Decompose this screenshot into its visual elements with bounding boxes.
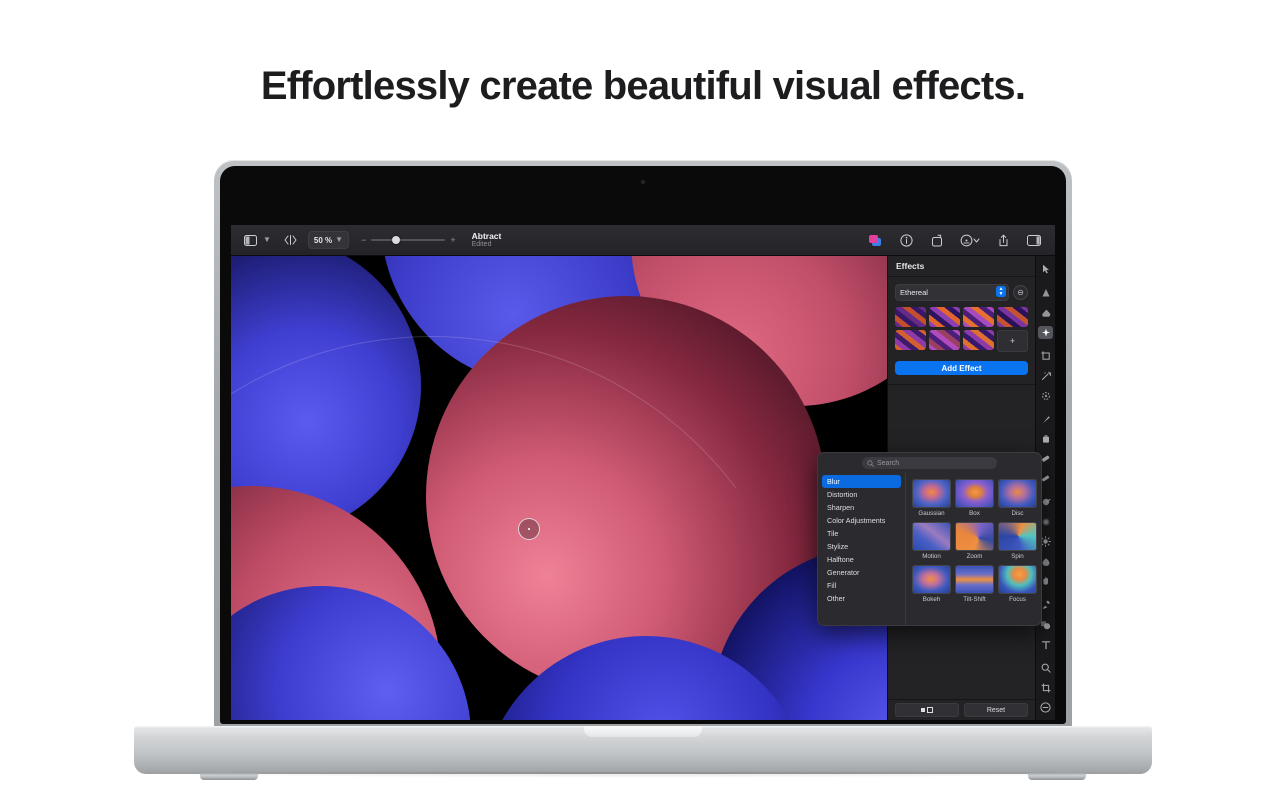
app-toolbar: ▼ 50 % ▼ − — [231, 225, 1055, 256]
preset-name: Ethereal — [900, 288, 928, 297]
magic-wand-icon[interactable] — [1038, 370, 1053, 383]
effect-thumb-box — [955, 479, 994, 508]
effects-browser-popover: Search Blur Distortion Sharpen Color Adj… — [817, 452, 1042, 626]
category-item-blur[interactable]: Blur — [822, 475, 901, 488]
search-placeholder: Search — [877, 460, 899, 467]
effect-thumb-bokeh — [912, 565, 951, 594]
effect-item-motion[interactable]: Motion — [912, 522, 951, 560]
effect-grid: Gaussian Box Disc — [906, 473, 1042, 625]
zoom-slider[interactable]: − + — [361, 236, 456, 245]
effect-item-box[interactable]: Box — [955, 479, 994, 517]
effects-preset-section: Ethereal ▲▼ ⊖ — [888, 277, 1035, 385]
effect-thumb-disc — [998, 479, 1037, 508]
popover-arrow — [973, 452, 985, 454]
preset-row: Ethereal ▲▼ ⊖ — [895, 284, 1028, 301]
effect-thumb-tilt-shift — [955, 565, 994, 594]
effect-item-disc[interactable]: Disc — [998, 479, 1037, 517]
screen: ▼ 50 % ▼ − — [231, 225, 1055, 720]
preset-thumbnails: + — [895, 307, 1028, 352]
layers-icon[interactable] — [866, 231, 884, 249]
effect-label: Zoom — [967, 553, 983, 560]
brush-icon[interactable] — [1038, 413, 1053, 426]
effect-label: Tilt-Shift — [963, 596, 985, 603]
magnifier-icon[interactable] — [1038, 662, 1053, 675]
effect-item-gaussian[interactable]: Gaussian — [912, 479, 951, 517]
panel-toggle-icon[interactable] — [1025, 231, 1043, 249]
category-item-fill[interactable]: Fill — [822, 579, 901, 592]
retouch-icon[interactable] — [1038, 287, 1053, 300]
clone-icon[interactable] — [1038, 389, 1053, 402]
effect-item-tilt-shift[interactable]: Tilt-Shift — [955, 565, 994, 603]
toolbar-right-group — [866, 231, 1055, 249]
preset-thumb-1[interactable] — [895, 307, 926, 327]
effect-label: Focus — [1009, 596, 1026, 603]
compare-filled-icon — [921, 708, 925, 712]
repair-icon[interactable] — [1038, 306, 1053, 319]
sidebar-icon[interactable] — [241, 231, 259, 249]
preset-thumb-4[interactable] — [997, 307, 1028, 327]
slider-plus-label: + — [450, 236, 455, 245]
effect-thumb-spin — [998, 522, 1037, 551]
compare-outline-icon — [927, 707, 933, 713]
effect-label: Gaussian — [918, 510, 944, 517]
crop-frame-icon[interactable] — [1038, 682, 1053, 695]
minus-circle-icon[interactable]: ⊖ — [1013, 285, 1028, 300]
zoom-level-control[interactable]: 50 % ▼ — [308, 231, 349, 249]
laptop-base — [134, 726, 1152, 774]
preset-thumb-6[interactable] — [929, 330, 960, 350]
effect-item-bokeh[interactable]: Bokeh — [912, 565, 951, 603]
adjust-icon[interactable] — [959, 231, 981, 249]
category-item-distortion[interactable]: Distortion — [822, 488, 901, 501]
preset-thumb-2[interactable] — [929, 307, 960, 327]
toolbar-left-group: ▼ 50 % ▼ − — [231, 231, 501, 249]
effect-label: Spin — [1011, 553, 1023, 560]
reset-button[interactable]: Reset — [964, 703, 1028, 717]
zoom-level-value: 50 % — [314, 236, 332, 245]
preset-thumb-5[interactable] — [895, 330, 926, 350]
document-title-block: Abtract Edited — [472, 232, 502, 249]
image-canvas[interactable] — [231, 256, 887, 720]
effect-thumb-motion — [912, 522, 951, 551]
category-item-sharpen[interactable]: Sharpen — [822, 501, 901, 514]
slider-knob[interactable] — [392, 236, 400, 244]
screen-bezel: ▼ 50 % ▼ − — [220, 166, 1066, 724]
device-shadow — [134, 772, 1152, 778]
category-item-other[interactable]: Other — [822, 592, 901, 605]
crop-rotate-icon[interactable] — [928, 231, 946, 249]
page-root: Effortlessly create beautiful visual eff… — [0, 0, 1286, 804]
effect-label: Disc — [1011, 510, 1023, 517]
add-preset-button[interactable]: + — [997, 330, 1028, 352]
sidebar-chevron-down-icon[interactable]: ▼ — [259, 236, 275, 244]
add-effect-button[interactable]: Add Effect — [895, 361, 1028, 375]
category-item-stylize[interactable]: Stylize — [822, 540, 901, 553]
page-title: Effortlessly create beautiful visual eff… — [0, 60, 1286, 112]
crop-icon[interactable] — [1038, 350, 1053, 363]
info-icon[interactable] — [897, 231, 915, 249]
effect-label: Box — [969, 510, 980, 517]
effect-item-zoom[interactable]: Zoom — [955, 522, 994, 560]
category-item-halftone[interactable]: Halftone — [822, 553, 901, 566]
compare-icon[interactable] — [282, 231, 300, 249]
search-icon — [867, 460, 874, 467]
category-list: Blur Distortion Sharpen Color Adjustment… — [818, 473, 906, 625]
category-item-tile[interactable]: Tile — [822, 527, 901, 540]
effect-thumb-zoom — [955, 522, 994, 551]
compare-toggle-button[interactable] — [895, 703, 959, 717]
search-input[interactable]: Search — [862, 457, 997, 469]
effect-label: Motion — [922, 553, 941, 560]
effect-item-focus[interactable]: Focus — [998, 565, 1037, 603]
base-notch — [584, 726, 702, 737]
popover-search-row: Search — [818, 453, 1041, 473]
effect-thumb-gaussian — [912, 479, 951, 508]
slider-track[interactable] — [371, 239, 445, 241]
laptop-lid: ▼ 50 % ▼ − — [214, 160, 1072, 732]
webcam-icon — [641, 180, 645, 184]
minus-circle-icon[interactable] — [1038, 701, 1053, 720]
slider-minus-label: − — [361, 236, 366, 245]
effect-item-spin[interactable]: Spin — [998, 522, 1037, 560]
photo-editor-app: ▼ 50 % ▼ − — [231, 225, 1055, 720]
effect-label: Bokeh — [923, 596, 941, 603]
zoom-chevron-down-icon: ▼ — [335, 236, 343, 244]
effects-wand-icon[interactable] — [1038, 326, 1053, 339]
effects-panel-title: Effects — [888, 256, 1035, 277]
preset-popup-button[interactable]: Ethereal ▲▼ — [895, 284, 1009, 301]
macbook-device: ▼ 50 % ▼ − — [214, 160, 1072, 780]
share-icon[interactable] — [994, 231, 1012, 249]
preset-thumb-3[interactable] — [963, 307, 994, 327]
popover-main: Blur Distortion Sharpen Color Adjustment… — [818, 473, 1041, 625]
category-item-color-adjustments[interactable]: Color Adjustments — [822, 514, 901, 527]
document-name: Abtract — [472, 232, 502, 241]
stepper-icon[interactable]: ▲▼ — [996, 286, 1006, 297]
text-icon[interactable] — [1038, 638, 1053, 651]
effect-thumb-focus — [998, 565, 1037, 594]
app-body: Effects Ethereal ▲▼ ⊖ — [231, 256, 1055, 720]
paint-bucket-icon[interactable] — [1038, 433, 1053, 446]
document-status: Edited — [472, 241, 502, 249]
effects-panel-footer: Reset — [888, 699, 1035, 720]
category-item-generator[interactable]: Generator — [822, 566, 901, 579]
brush-cursor — [518, 518, 540, 540]
preset-thumb-7[interactable] — [963, 330, 994, 350]
arrow-select-icon[interactable] — [1038, 263, 1053, 276]
